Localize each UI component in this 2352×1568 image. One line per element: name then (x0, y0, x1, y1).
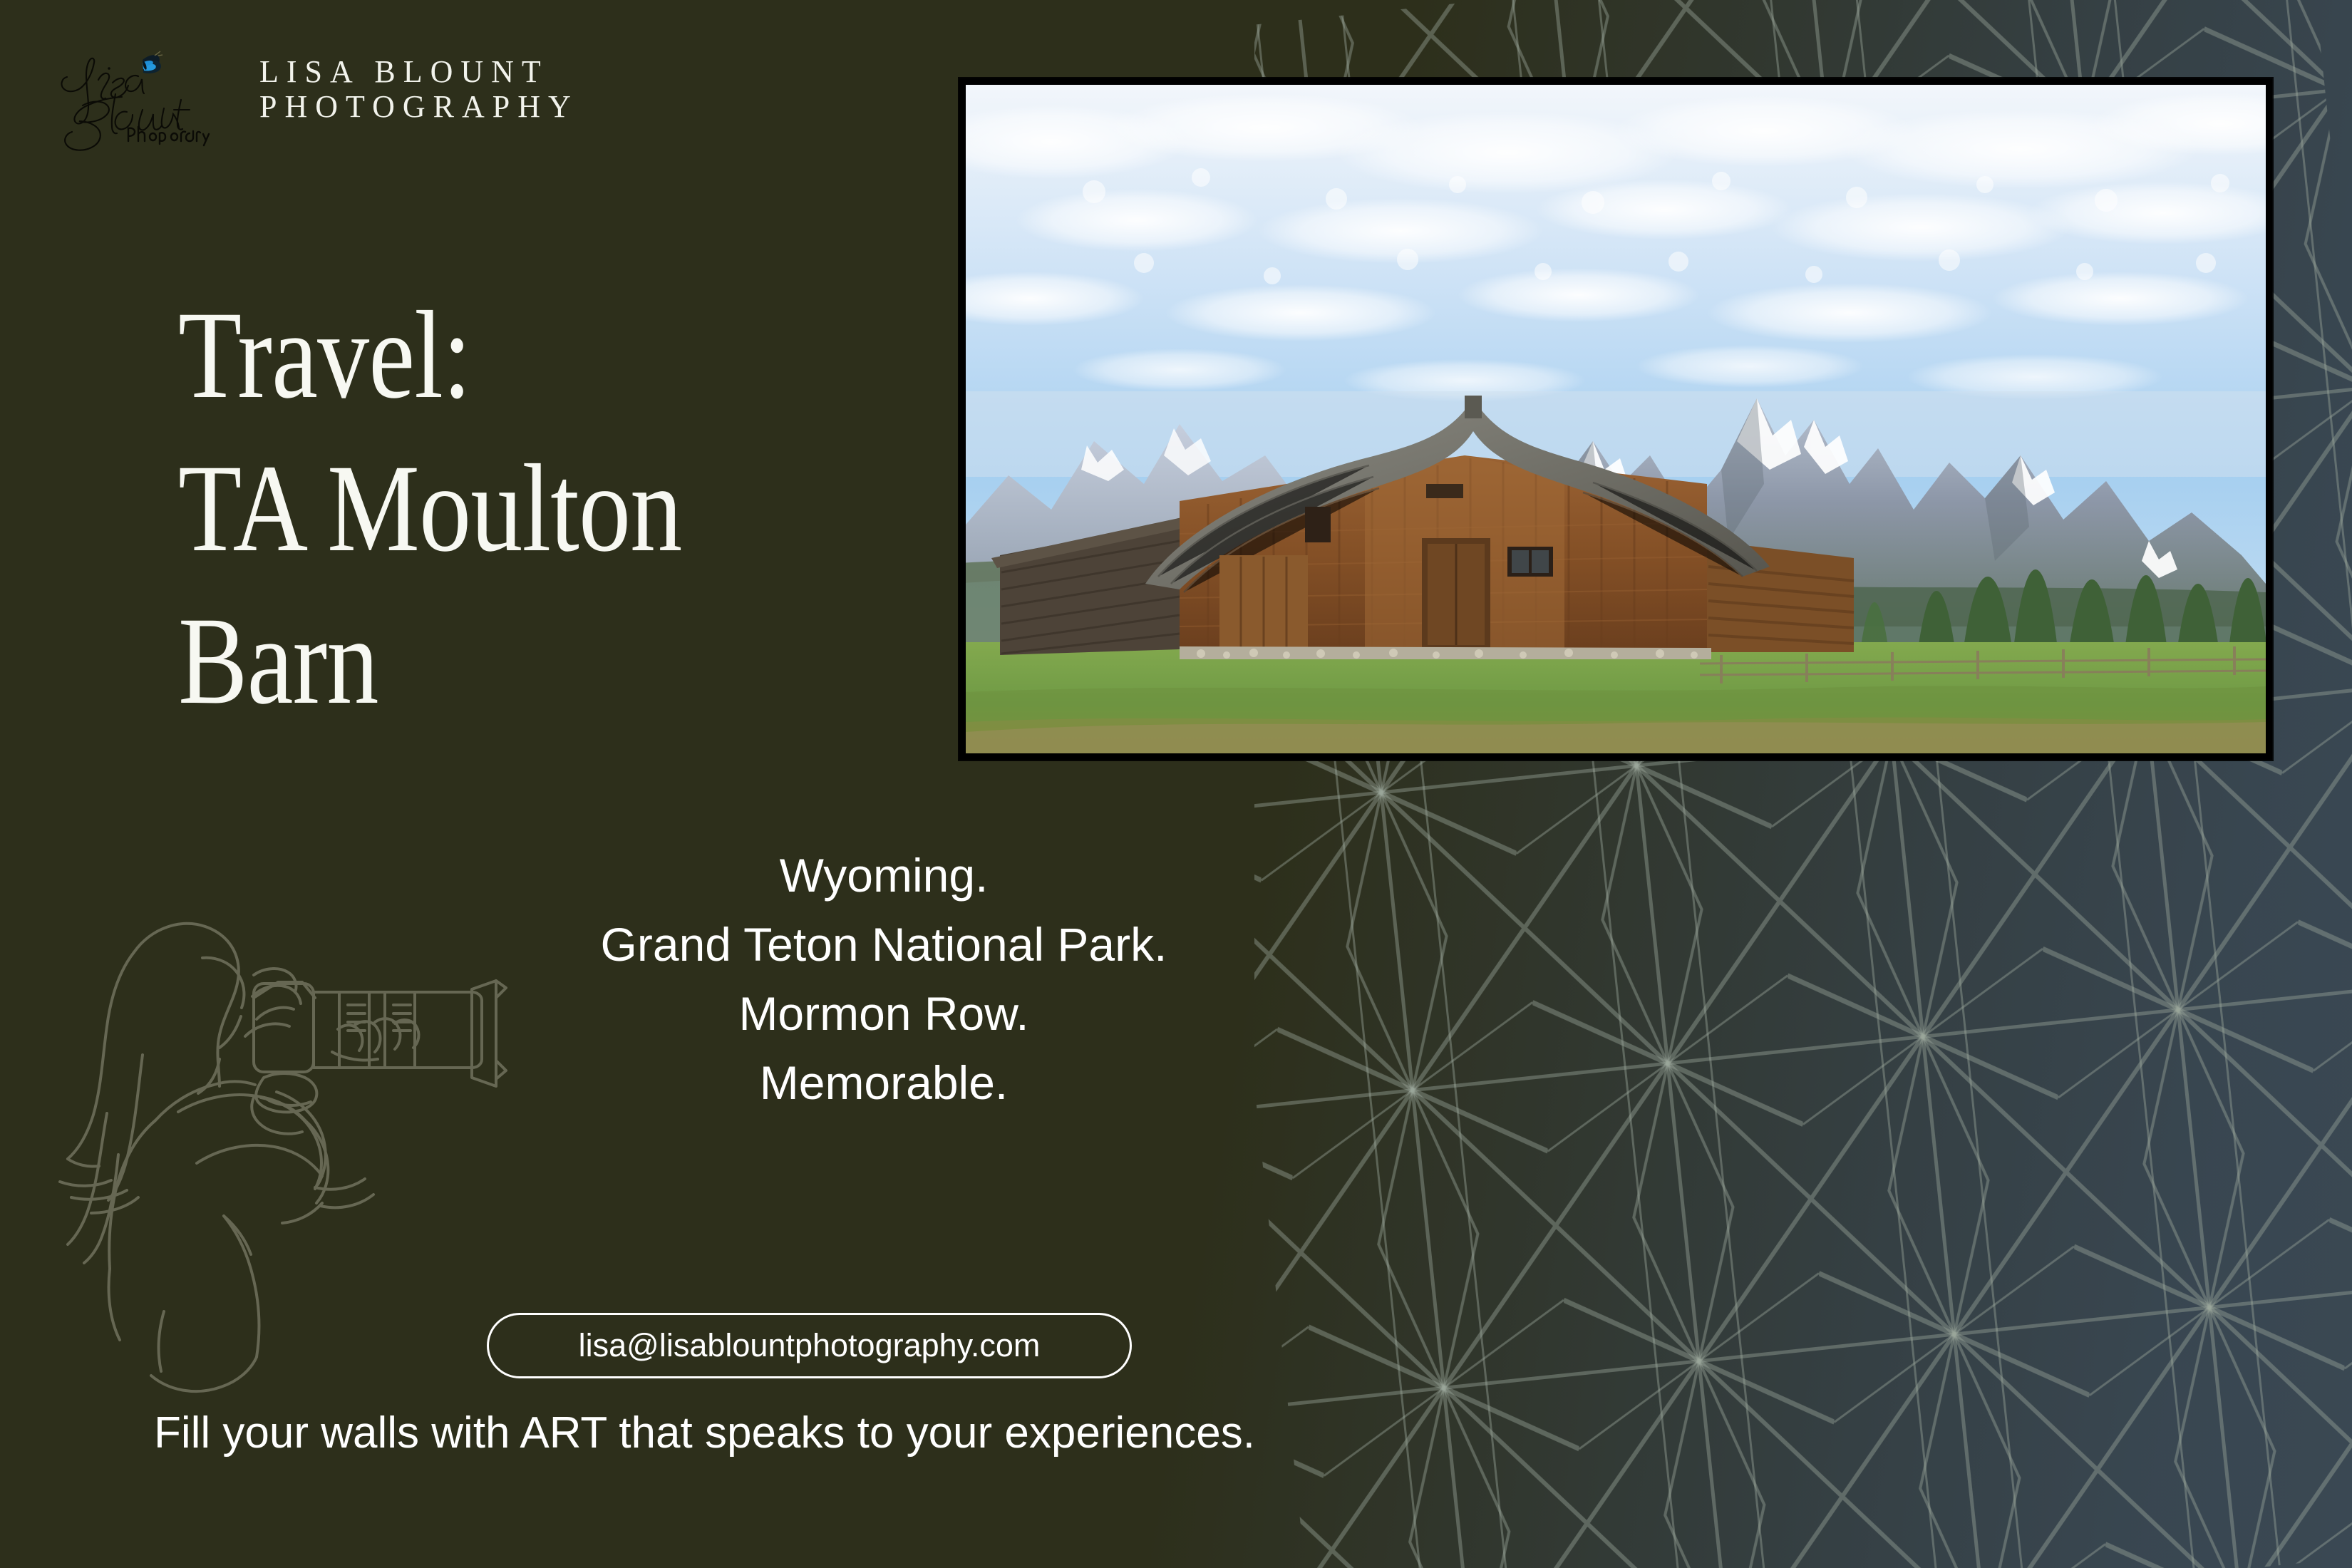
brand-name-line-1: LISA BLOUNT (259, 54, 579, 89)
headline-line-3: Barn (178, 585, 847, 738)
woman-photographer-illustration (50, 884, 549, 1425)
photo-frame (959, 78, 2272, 760)
brand-lockup[interactable]: LISA BLOUNT PHOTOGRAPHY (51, 44, 593, 165)
barn-photograph (966, 85, 2266, 753)
page-title: Travel: TA Moulton Barn (178, 279, 984, 738)
headline-line-1: Travel: (178, 279, 847, 433)
location-item: Wyoming. (442, 841, 1326, 910)
poster-canvas: LISA BLOUNT PHOTOGRAPHY Travel: TA Moult… (0, 0, 2352, 1568)
location-list: Wyoming. Grand Teton National Park. Morm… (442, 841, 1326, 1118)
headline-line-2: TA Moulton (178, 433, 847, 586)
email-contact-button[interactable]: lisa@lisablountphotography.com (487, 1313, 1132, 1378)
butterfly-icon (142, 51, 163, 73)
location-item: Grand Teton National Park. (442, 910, 1326, 979)
location-item: Memorable. (442, 1048, 1326, 1118)
email-label: lisa@lisablountphotography.com (579, 1327, 1041, 1364)
brand-name-block: LISA BLOUNT PHOTOGRAPHY (259, 54, 579, 125)
location-item: Mormon Row. (442, 979, 1326, 1048)
lisa-blount-script-logo (51, 44, 222, 158)
brand-name-line-2: PHOTOGRAPHY (259, 89, 579, 124)
